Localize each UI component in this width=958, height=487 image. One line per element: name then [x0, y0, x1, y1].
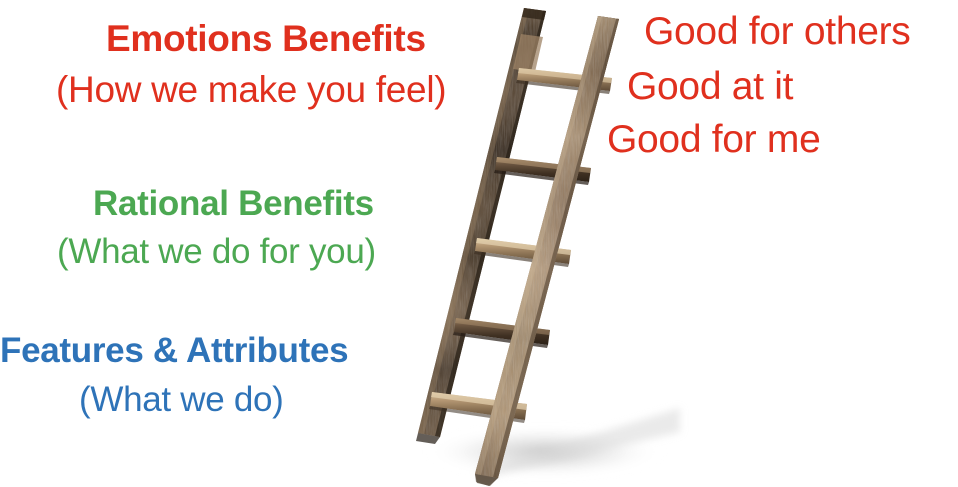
ladder-floor-shadow [425, 408, 680, 478]
tier-rational-title: Rational Benefits [93, 186, 374, 221]
tier-rational-subtitle: (What we do for you) [57, 234, 376, 269]
outcome-good-for-me: Good for me [607, 120, 820, 159]
tier-features-title: Features & Attributes [0, 333, 348, 368]
outcome-good-for-others: Good for others [644, 12, 910, 51]
tier-emotional-subtitle: (How we make you feel) [56, 71, 446, 108]
tier-emotional-title: Emotions Benefits [106, 20, 426, 57]
tier-features-subtitle: (What we do) [79, 382, 284, 417]
outcome-good-at-it: Good at it [627, 67, 793, 106]
slide-canvas: Emotions Benefits (How we make you feel)… [0, 0, 958, 487]
